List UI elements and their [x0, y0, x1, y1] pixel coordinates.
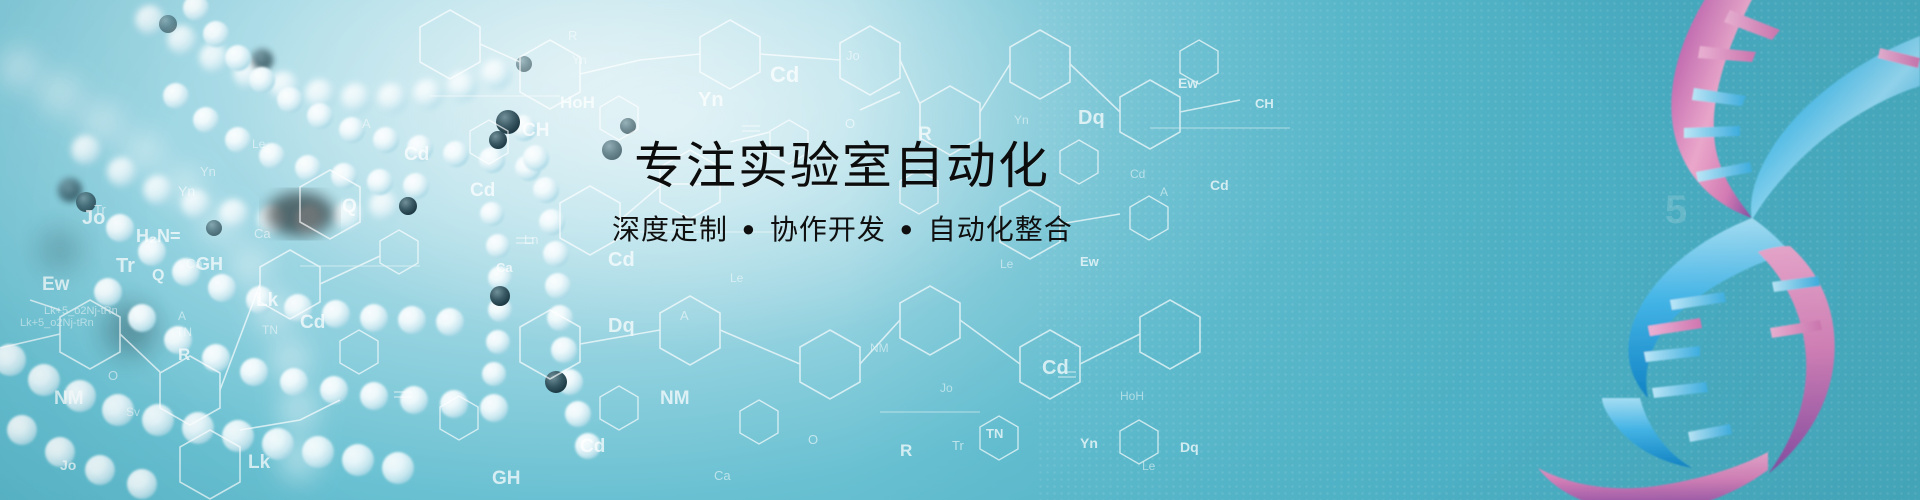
banner-text-block: 专注实验室自动化 深度定制 ● 协作开发 ● 自动化整合: [612, 140, 1072, 246]
subtitle-part-3: 自动化整合: [928, 214, 1073, 245]
subtitle-part-2: 协作开发: [770, 214, 886, 245]
background-vignette: [0, 0, 1920, 500]
banner-root: Cd Jo R HoH Yn Yn Dq R Ew CH Yn O CH Cd …: [0, 0, 1920, 500]
bullet-separator-icon: ●: [900, 217, 914, 241]
watermark-digit: 5: [1665, 188, 1688, 233]
subtitle-part-1: 深度定制: [612, 214, 728, 245]
banner-subtitle: 深度定制 ● 协作开发 ● 自动化整合: [612, 215, 1072, 246]
banner-headline: 专注实验室自动化: [612, 140, 1072, 193]
bullet-separator-icon: ●: [742, 217, 756, 241]
